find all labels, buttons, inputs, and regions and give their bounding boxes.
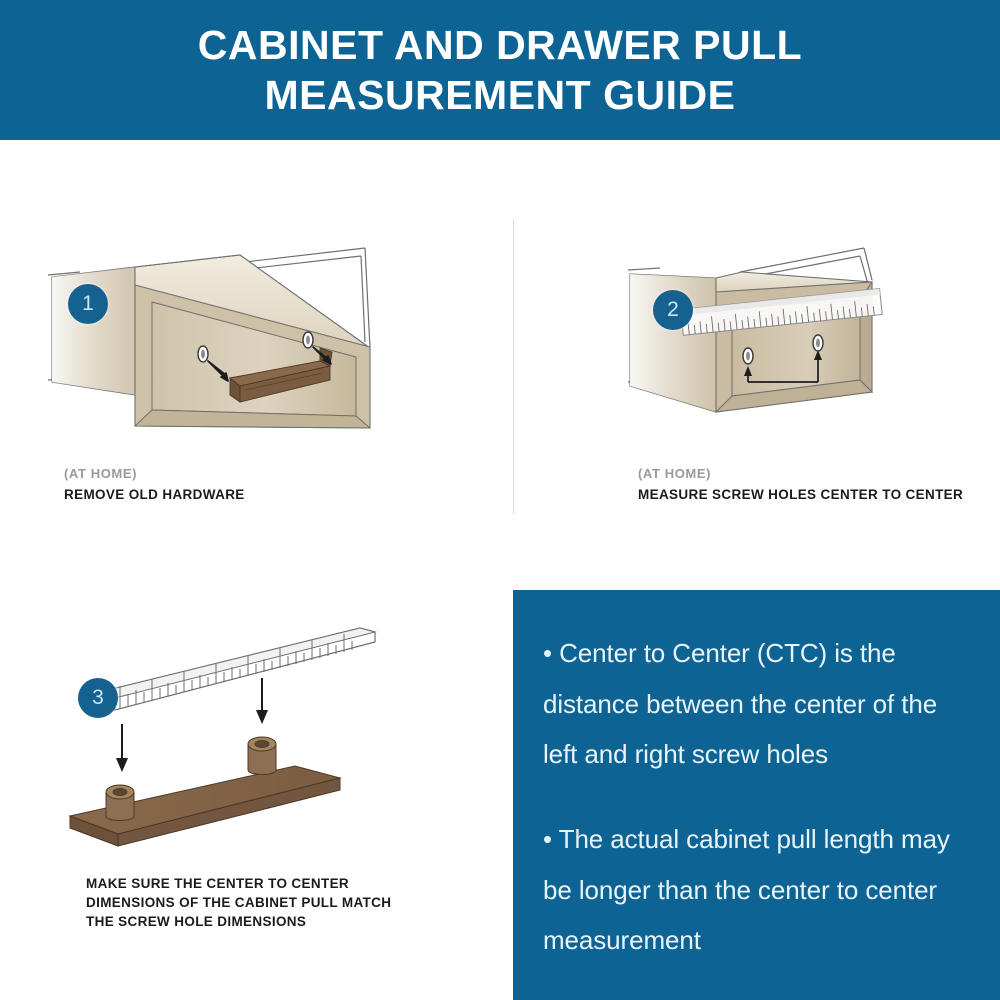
step-1-eyebrow: (AT HOME) (64, 466, 484, 481)
step-2-caption: (AT HOME) MEASURE SCREW HOLES CENTER TO … (638, 466, 1000, 504)
ruler-over-pull-icon (40, 620, 480, 870)
column-divider (513, 218, 514, 514)
infographic-page: CABINET AND DRAWER PULL MEASUREMENT GUID… (0, 0, 1000, 1000)
pull-post-right (248, 737, 276, 775)
page-title: CABINET AND DRAWER PULL MEASUREMENT GUID… (120, 20, 880, 120)
step-1-caption: (AT HOME) REMOVE OLD HARDWARE (64, 466, 484, 504)
step-number-badge-1: 1 (68, 284, 108, 324)
pull-post-left (106, 785, 134, 821)
screw-hole-left (198, 346, 208, 362)
step-2-eyebrow: (AT HOME) (638, 466, 1000, 481)
step-number-badge-3: 3 (78, 678, 118, 718)
step-number-badge-2: 2 (653, 290, 693, 330)
notes-panel: • Center to Center (CTC) is the distance… (513, 590, 1000, 1000)
ruler-icon (100, 628, 375, 710)
screw-hole-right (813, 335, 823, 351)
step-2-title: MEASURE SCREW HOLES CENTER TO CENTER (638, 485, 1000, 504)
header-banner: CABINET AND DRAWER PULL MEASUREMENT GUID… (0, 0, 1000, 140)
note-item: • The actual cabinet pull length may be … (543, 814, 972, 966)
screw-hole-left (743, 348, 753, 364)
screw-hole-right (303, 332, 313, 348)
step-1-title: REMOVE OLD HARDWARE (64, 485, 484, 504)
step-3-title: MAKE SURE THE CENTER TO CENTER DIMENSION… (86, 874, 416, 931)
step-3-caption: MAKE SURE THE CENTER TO CENTER DIMENSION… (86, 874, 416, 931)
note-item: • Center to Center (CTC) is the distance… (543, 628, 972, 780)
